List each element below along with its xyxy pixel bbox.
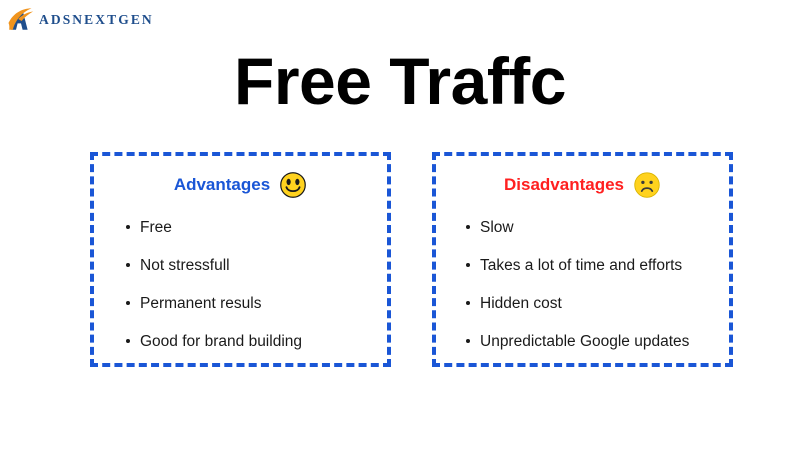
- adsnextgen-logo-icon: [8, 7, 38, 33]
- advantages-header: Advantages: [94, 172, 387, 198]
- comparison-columns: Advantages Free Not stressfull Permanent…: [90, 152, 733, 367]
- bullet-icon: [466, 263, 470, 267]
- list-item: Good for brand building: [126, 322, 387, 360]
- smiley-face-icon: [279, 171, 307, 199]
- disadvantages-header: Disadvantages: [436, 172, 729, 198]
- disadvantages-panel: Disadvantages Slow Takes a lot of time a…: [432, 152, 733, 367]
- bullet-icon: [466, 225, 470, 229]
- bullet-icon: [126, 301, 130, 305]
- list-item: Not stressfull: [126, 246, 387, 284]
- page-title: Free Traffc: [0, 44, 800, 118]
- disadvantages-list: Slow Takes a lot of time and efforts Hid…: [436, 208, 729, 360]
- bullet-icon: [466, 339, 470, 343]
- list-item: Slow: [466, 208, 729, 246]
- advantages-list: Free Not stressfull Permanent resuls Goo…: [94, 208, 387, 360]
- list-item: Permanent resuls: [126, 284, 387, 322]
- bullet-icon: [126, 263, 130, 267]
- bullet-icon: [466, 301, 470, 305]
- disadvantages-title: Disadvantages: [504, 175, 624, 195]
- list-item: Takes a lot of time and efforts: [466, 246, 729, 284]
- brand-logo: ADSNEXTGEN: [8, 6, 154, 34]
- advantages-panel: Advantages Free Not stressfull Permanent…: [90, 152, 391, 367]
- frowning-face-icon: [633, 171, 661, 199]
- brand-wordmark: ADSNEXTGEN: [39, 13, 154, 27]
- list-item: Unpredictable Google updates: [466, 322, 729, 360]
- list-item: Free: [126, 208, 387, 246]
- bullet-icon: [126, 339, 130, 343]
- list-item: Hidden cost: [466, 284, 729, 322]
- bullet-icon: [126, 225, 130, 229]
- advantages-title: Advantages: [174, 175, 270, 195]
